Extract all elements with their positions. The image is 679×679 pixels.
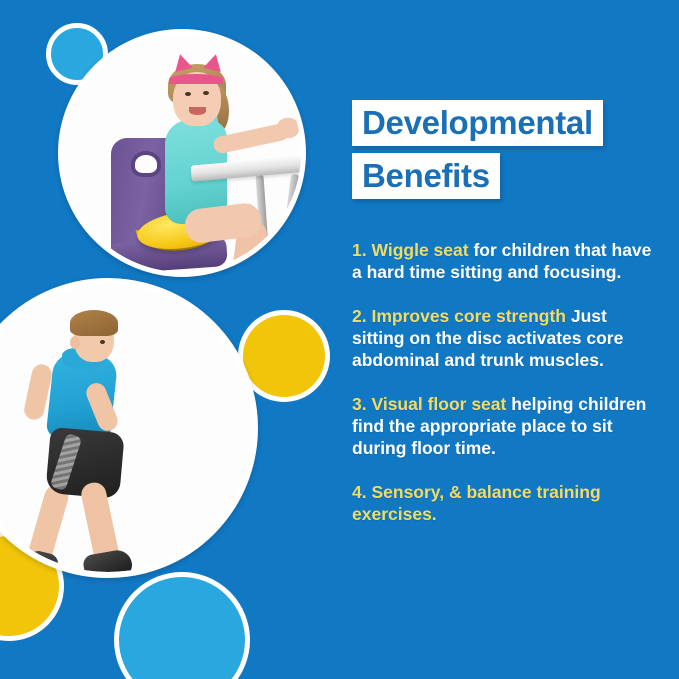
content-panel: Developmental Benefits 1. Wiggle seat fo… xyxy=(352,100,652,525)
benefit-4-highlight: Sensory, & balance training exercises. xyxy=(352,482,601,524)
decor-circle-bottom-center-blue xyxy=(114,572,250,679)
boy-ear xyxy=(70,336,80,349)
girl-eye-left xyxy=(185,92,191,96)
girl-headband xyxy=(169,74,223,84)
benefit-item-2: 2. Improves core strength Just sitting o… xyxy=(352,305,652,371)
benefits-list: 1. Wiggle seat for children that have a … xyxy=(352,239,652,525)
photo-girl-at-desk xyxy=(58,29,306,277)
boy-sock-front xyxy=(82,548,134,572)
benefit-2-highlight: Improves core strength xyxy=(371,306,566,326)
benefit-1-number: 1. xyxy=(352,240,367,260)
girl-eye-right xyxy=(203,91,209,95)
boy-eye xyxy=(100,340,105,344)
boy-hair xyxy=(70,310,118,336)
photo-boy-on-discs-image xyxy=(0,284,252,572)
benefit-4-number: 4. xyxy=(352,482,367,502)
page-title: Developmental Benefits xyxy=(352,100,652,199)
benefit-3-highlight: Visual floor seat xyxy=(371,394,506,414)
benefit-1-highlight: Wiggle seat xyxy=(371,240,468,260)
benefit-2-number: 2. xyxy=(352,306,367,326)
benefit-item-1: 1. Wiggle seat for children that have a … xyxy=(352,239,652,283)
infographic-poster: Developmental Benefits 1. Wiggle seat fo… xyxy=(0,0,679,679)
photo-girl-at-desk-image xyxy=(63,34,301,272)
girl-mouth xyxy=(189,107,206,115)
title-line-2: Benefits xyxy=(352,153,500,199)
chair-handle-hole xyxy=(131,151,161,177)
desk-leg-rear xyxy=(279,174,300,272)
title-line-1: Developmental xyxy=(352,100,603,146)
photo-boy-on-discs xyxy=(0,278,258,578)
girl-hand xyxy=(277,118,299,138)
benefit-item-4: 4. Sensory, & balance training exercises… xyxy=(352,481,652,525)
benefit-3-number: 3. xyxy=(352,394,367,414)
benefit-item-3: 3. Visual floor seat helping children fi… xyxy=(352,393,652,459)
